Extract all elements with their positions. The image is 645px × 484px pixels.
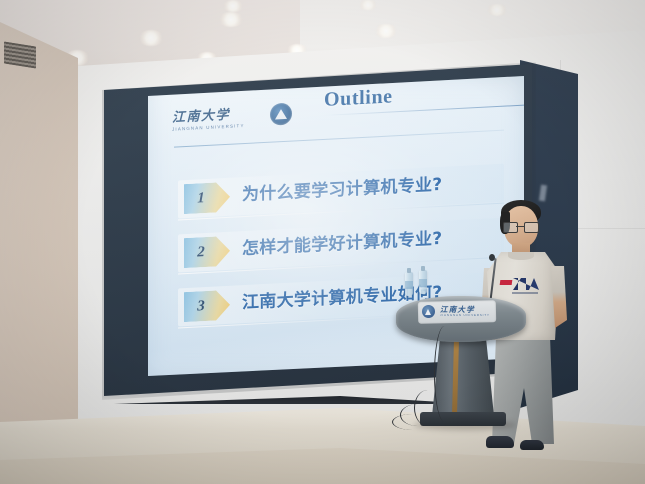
speaker-collar	[508, 252, 534, 260]
speaker-glasses-icon	[503, 222, 537, 231]
outline-item[interactable]: 2 怎样才能学好计算机专业?	[170, 215, 510, 275]
slide-title: Outline	[324, 85, 393, 112]
podium-english-name: JIANGNAN UNIVERSITY	[440, 313, 490, 317]
bottle-label	[419, 279, 427, 287]
outline-number-label: 3	[184, 290, 218, 322]
speaker-shoe	[486, 436, 514, 448]
bottle-label	[405, 281, 413, 289]
outline-item[interactable]: 1 为什么要学习计算机专业?	[170, 161, 510, 221]
glasses-bridge	[516, 226, 524, 227]
ceiling-downlight	[486, 4, 508, 16]
jiangnan-university-emblem-icon	[422, 305, 435, 318]
water-bottle	[405, 272, 413, 296]
outline-number-label: 2	[184, 236, 218, 268]
ceiling-downlight	[218, 12, 244, 27]
ceiling-downlight	[358, 0, 378, 10]
ceiling-downlight	[374, 24, 398, 38]
glasses-lens-right	[524, 222, 539, 233]
outline-number-label: 1	[184, 182, 218, 214]
microphone-head	[489, 254, 495, 261]
shirt-logo-accent	[500, 280, 513, 285]
ceiling-downlight	[222, 0, 244, 12]
speaker-shoe	[520, 440, 544, 450]
water-bottle	[419, 270, 427, 294]
slide-university-logo: 江南大学 JIANGNAN UNIVERSITY	[172, 101, 292, 141]
lecture-hall-photo: 江南大学 JIANGNAN UNIVERSITY Outline 1 为什么要学…	[0, 0, 645, 484]
floor-cable	[392, 414, 433, 430]
glasses-lens-left	[503, 222, 518, 233]
left-side-wall	[0, 22, 78, 442]
shirt-logo-underline	[512, 292, 538, 294]
ceiling-downlight	[138, 30, 164, 46]
